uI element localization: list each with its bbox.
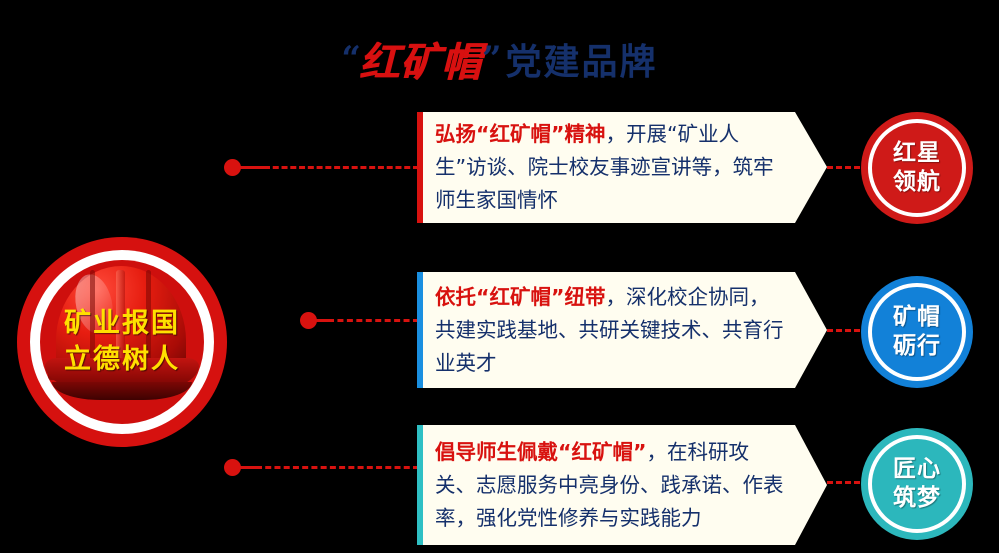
badge-inner-circle: 矿业报国 立德树人 — [40, 260, 204, 424]
content-box-text-2: 依托“红矿帽”纽带，深化校企协同，共建实践基地、共研关键技术、共育行业英才 — [435, 272, 789, 388]
badge-label-line1: 矿业报国 — [64, 306, 180, 342]
page-title: “红矿帽”党建品牌 — [0, 30, 999, 88]
content-box-accent-bar-1 — [417, 112, 423, 223]
badge-white-ring: 矿业报国 立德树人 — [30, 250, 214, 434]
outcome-label-1-line1: 红星 — [893, 139, 941, 168]
content-box-arrow-1 — [795, 112, 827, 223]
content-lead-1: 弘扬“红矿帽”精神 — [435, 122, 605, 146]
content-box-text-1: 弘扬“红矿帽”精神，开展“矿业人生”访谈、院士校友事迹宣讲等，筑牢师生家国情怀 — [435, 112, 789, 223]
title-quote-open: “ — [341, 39, 359, 79]
outcome-circle-3[interactable]: 匠心 筑梦 — [861, 428, 973, 540]
content-box-3[interactable]: 倡导师生佩戴“红矿帽”，在科研攻关、志愿服务中亮身份、践承诺、作表率，强化党性修… — [417, 425, 795, 545]
infographic-canvas: “红矿帽”党建品牌 矿业报国 立德树人 — [0, 0, 999, 553]
content-box-1[interactable]: 弘扬“红矿帽”精神，开展“矿业人生”访谈、院士校友事迹宣讲等，筑牢师生家国情怀 — [417, 112, 795, 223]
connector-dot-2 — [300, 312, 317, 329]
outcome-circle-ring-2: 矿帽 砺行 — [868, 283, 966, 381]
content-box-arrow-2 — [795, 272, 827, 388]
title-suffix-text: 党建品牌 — [506, 42, 658, 83]
badge-label: 矿业报国 立德树人 — [40, 260, 204, 424]
outcome-label-3-line1: 匠心 — [893, 455, 941, 484]
outcome-label-2-line2: 砺行 — [893, 332, 941, 361]
badge-label-line2: 立德树人 — [64, 342, 180, 378]
content-lead-3: 倡导师生佩戴“红矿帽” — [435, 440, 646, 464]
outcome-label-3-line2: 筑梦 — [893, 484, 941, 513]
connector-dot-1 — [224, 159, 241, 176]
content-box-arrow-3 — [795, 425, 827, 545]
content-lead-2: 依托“红矿帽”纽带 — [435, 285, 605, 309]
outcome-label-1-line2: 领航 — [893, 168, 941, 197]
connector-dashed-2 — [328, 319, 419, 322]
connector-solid-1 — [240, 166, 266, 169]
content-box-2[interactable]: 依托“红矿帽”纽带，深化校企协同，共建实践基地、共研关键技术、共育行业英才 — [417, 272, 795, 388]
content-box-accent-bar-3 — [417, 425, 423, 545]
title-brand-text: 红矿帽 — [359, 39, 482, 86]
outcome-circle-1[interactable]: 红星 领航 — [861, 112, 973, 224]
outcome-circle-2[interactable]: 矿帽 砺行 — [861, 276, 973, 388]
outcome-circle-ring-1: 红星 领航 — [868, 119, 966, 217]
central-badge[interactable]: 矿业报国 立德树人 — [17, 237, 227, 447]
outcome-circle-ring-3: 匠心 筑梦 — [868, 435, 966, 533]
connector-dashed-1 — [264, 166, 419, 169]
title-quote-close: ” — [482, 39, 500, 79]
outcome-label-2-line1: 矿帽 — [893, 303, 941, 332]
content-box-text-3: 倡导师生佩戴“红矿帽”，在科研攻关、志愿服务中亮身份、践承诺、作表率，强化党性修… — [435, 425, 789, 545]
connector-dashed-3 — [256, 466, 419, 469]
connector-dot-3 — [224, 459, 241, 476]
content-box-accent-bar-2 — [417, 272, 423, 388]
